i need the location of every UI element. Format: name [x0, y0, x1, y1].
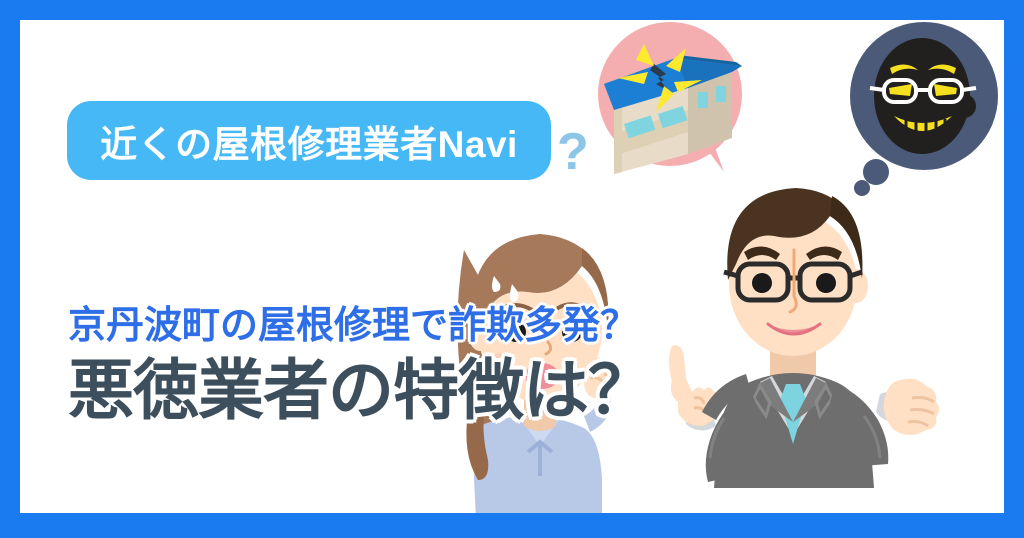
headline-block: 京丹波町の屋根修理で詐欺多発？ 悪徳業者の特徴は？ — [68, 306, 653, 425]
businessman-character — [650, 168, 940, 525]
headline-subtitle: 京丹波町の屋根修理で詐欺多発？ — [68, 306, 653, 348]
hero-banner-canvas: ? 近くの屋根修理業者Navi 京丹波町の屋根修理で詐欺多発？ 悪徳業者の特徴は… — [0, 0, 1024, 538]
site-logo-badge[interactable]: 近くの屋根修理業者Navi — [67, 101, 551, 180]
site-logo-label: 近くの屋根修理業者Navi — [100, 114, 518, 168]
question-mark-decor: ? — [557, 122, 589, 182]
headline-title: 悪徳業者の特徴は？ — [68, 356, 653, 425]
